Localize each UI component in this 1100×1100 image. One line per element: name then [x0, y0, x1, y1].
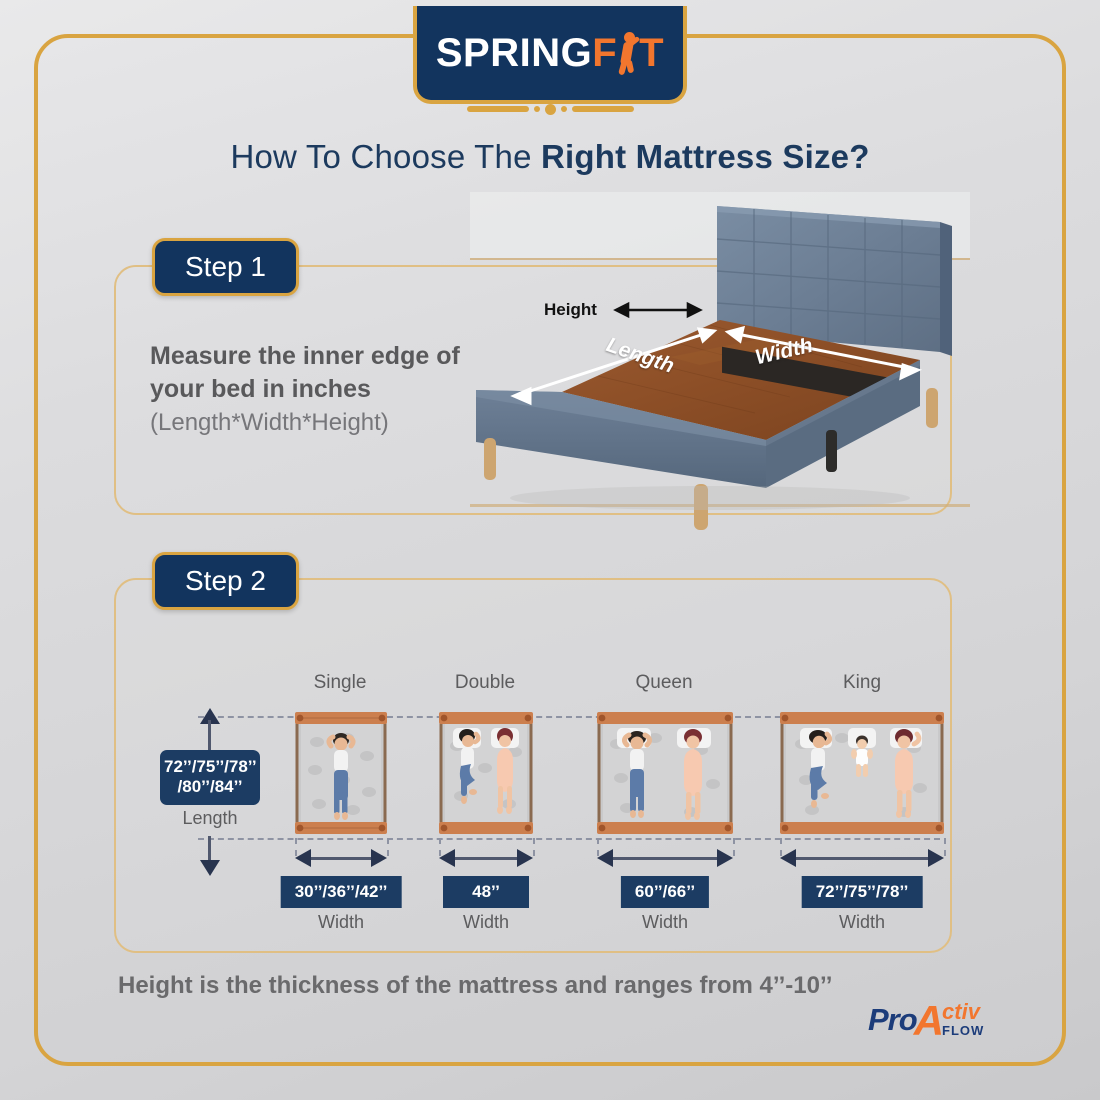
width-badge-double: 48’’	[443, 876, 529, 908]
page-title-light: How To Choose The	[230, 138, 541, 175]
page-title-bold: Right Mattress Size?	[541, 138, 870, 175]
proactiv-pro-text: Pro	[868, 1002, 917, 1038]
vguide-king-left	[780, 838, 782, 856]
length-badge: 72’’/75’’/78’’ /80’’/84’’	[160, 750, 260, 805]
bed-illustration: Height Length Width	[470, 192, 970, 532]
width-badge-single: 30’’/36’’/42’’	[281, 876, 402, 908]
length-badge-line2: /80’’/84’’	[178, 777, 243, 796]
length-arrow-up-stem	[208, 720, 211, 750]
logo-spring-text: SPRING	[436, 31, 592, 76]
logo-letter-t: T	[639, 31, 664, 76]
size-label-king: King	[843, 672, 881, 694]
proactiv-flow-text: FLOW	[942, 1023, 984, 1038]
width-caption-single: Width	[318, 912, 364, 933]
logo-text: SPRINGFT	[436, 31, 664, 76]
length-badge-line1: 72’’/75’’/78’’	[164, 757, 257, 776]
vguide-double-left	[439, 838, 441, 856]
vguide-queen-right	[733, 838, 735, 856]
width-caption-queen: Width	[642, 912, 688, 933]
proactiv-a-letter: A	[914, 1005, 944, 1038]
vguide-double-right	[533, 838, 535, 856]
length-indicator: 72’’/75’’/78’’ /80’’/84’’ Length	[160, 708, 310, 878]
logo-divider-ornament	[445, 102, 655, 116]
vguide-king-right	[944, 838, 946, 856]
width-arrow-double	[439, 848, 533, 868]
step-1-badge: Step 1	[152, 238, 299, 296]
bed-leg-left	[484, 438, 496, 480]
mattress-queen	[597, 708, 733, 838]
width-arrow-king	[780, 848, 944, 868]
page-title: How To Choose The Right Mattress Size?	[0, 138, 1100, 176]
size-label-double: Double	[455, 672, 515, 694]
footer-note: Height is the thickness of the mattress …	[118, 972, 832, 1000]
mattress-size-comparison: 72’’/75’’/78’’ /80’’/84’’ Length Single	[140, 672, 940, 942]
bed-svg	[470, 192, 970, 532]
vguide-single-right	[387, 838, 389, 856]
bed-leg-rear	[826, 430, 837, 472]
step-1-headline: Measure the inner edge of your bed in in…	[150, 340, 480, 406]
width-arrow-single	[295, 848, 387, 868]
step-1-instruction: Measure the inner edge of your bed in in…	[150, 340, 480, 439]
jumping-figure-icon	[617, 31, 639, 75]
width-arrow-queen	[597, 848, 733, 868]
length-caption: Length	[160, 808, 260, 829]
width-badge-queen: 60’’/66’’	[621, 876, 709, 908]
width-badge-king: 72’’/75’’/78’’	[802, 876, 923, 908]
springfit-logo: SPRINGFT	[413, 6, 687, 104]
length-arrow-down-head	[200, 860, 220, 876]
step-1-subline: (Length*Width*Height)	[150, 407, 480, 439]
logo-letter-f: F	[592, 31, 617, 76]
mattress-single	[295, 708, 387, 838]
width-caption-double: Width	[463, 912, 509, 933]
mattress-double	[439, 708, 533, 838]
vguide-queen-left	[597, 838, 599, 856]
proactiv-ctiv-text: ctiv	[942, 1002, 984, 1023]
height-arrow	[616, 304, 700, 316]
proactiv-flow-logo: Pro A ctiv FLOW	[868, 1002, 984, 1038]
bed-leg-right	[926, 388, 938, 428]
width-caption-king: Width	[839, 912, 885, 933]
step-2-badge: Step 2	[152, 552, 299, 610]
size-label-queen: Queen	[635, 672, 692, 694]
mattress-king	[780, 708, 944, 838]
vguide-single-left	[295, 838, 297, 856]
size-label-single: Single	[314, 672, 367, 694]
